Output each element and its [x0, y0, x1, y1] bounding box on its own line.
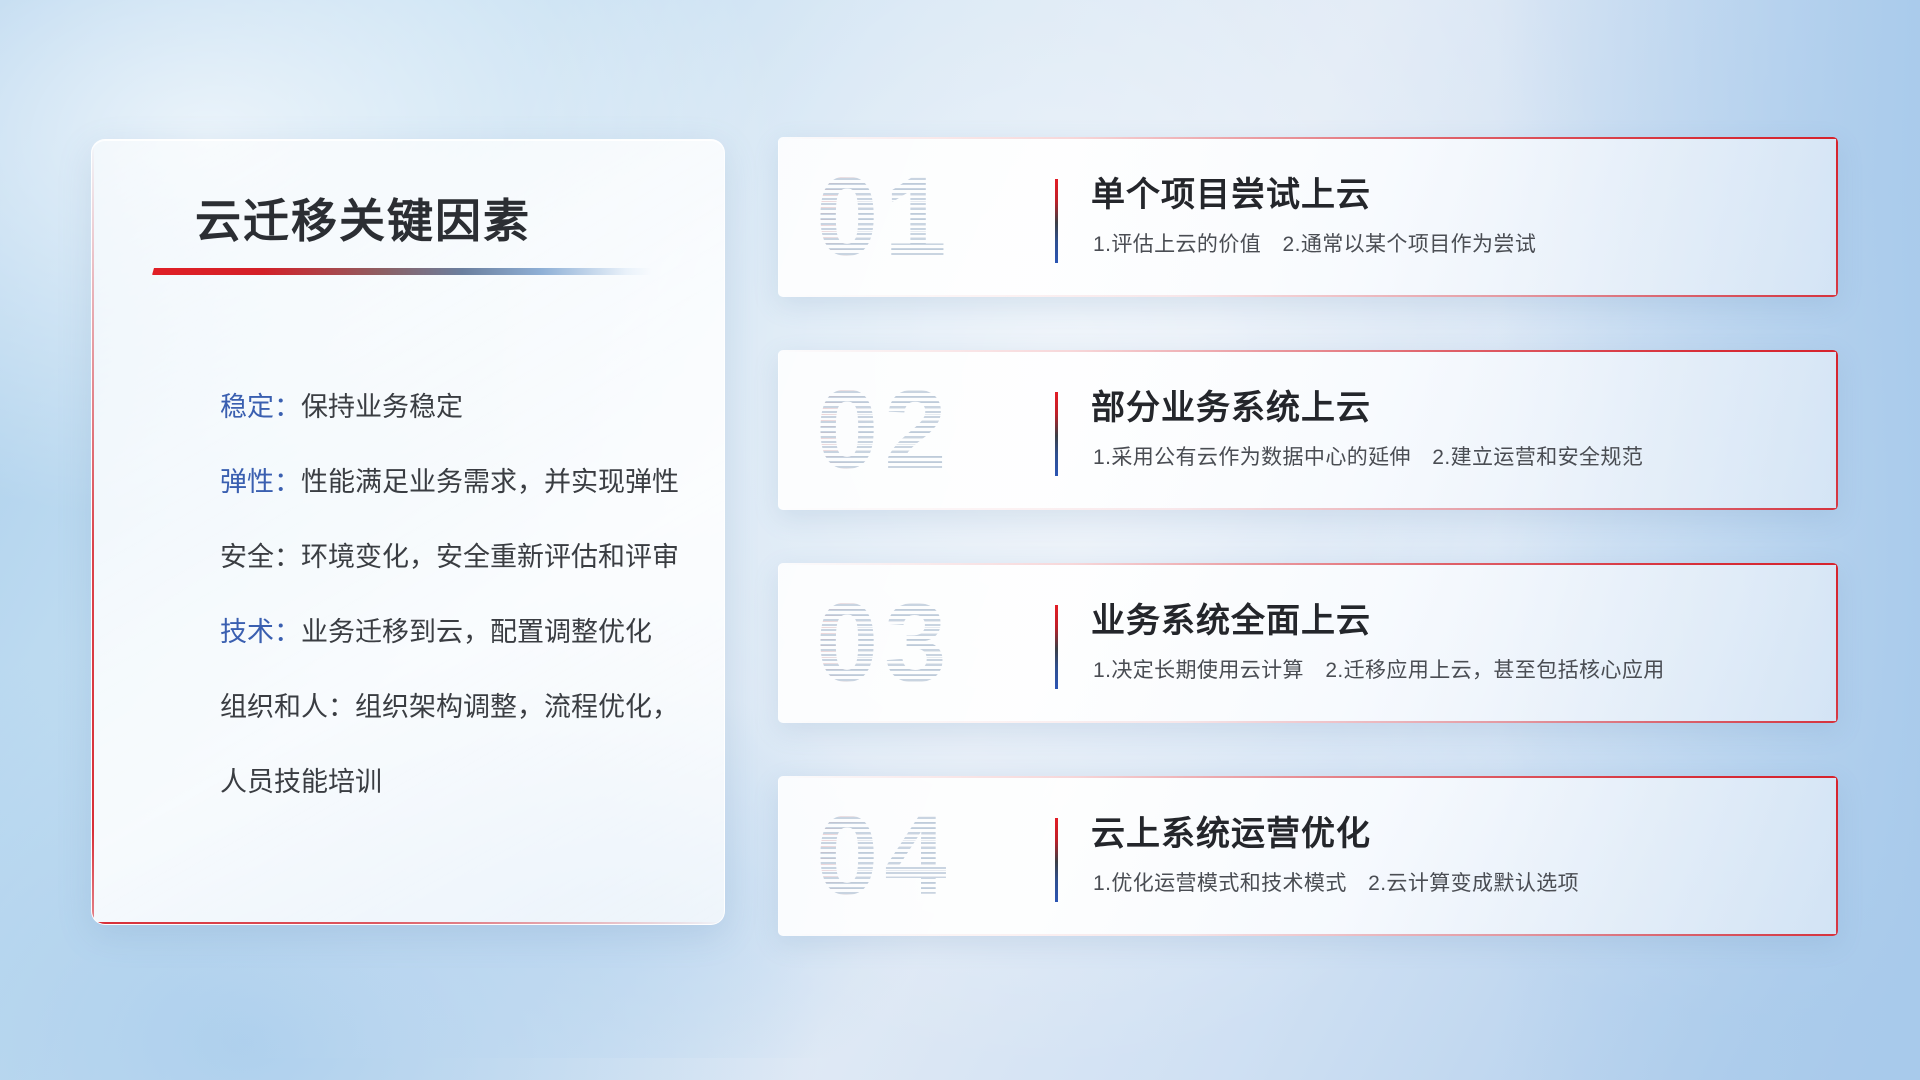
- factor-label: 稳定：: [220, 392, 301, 422]
- card-accent-bar: [1055, 179, 1058, 263]
- factor-row: 弹性：性能满足业务需求，并实现弹性: [220, 445, 684, 520]
- card-description: 1.评估上云的价值 2.通常以某个项目作为尝试: [1093, 228, 1536, 258]
- card-title: 单个项目尝试上云: [1091, 167, 1371, 216]
- card-number: 03: [816, 579, 1056, 707]
- card-description: 1.采用公有云作为数据中心的延伸 2.建立运营和安全规范: [1093, 441, 1643, 471]
- factor-text: 保持业务稳定: [301, 392, 463, 422]
- card-right-border: [1836, 563, 1838, 723]
- card-title: 云上系统运营优化: [1091, 806, 1371, 855]
- card-accent-bar: [1055, 605, 1058, 689]
- card-bottom-border: [778, 934, 1838, 936]
- card-top-border: [778, 137, 1838, 139]
- card-top-border: [778, 563, 1838, 565]
- factor-text: 业务迁移到云，配置调整优化: [301, 617, 652, 647]
- factor-row: 稳定：保持业务稳定: [220, 370, 684, 445]
- stage-card[interactable]: 0101单个项目尝试上云1.评估上云的价值 2.通常以某个项目作为尝试: [778, 137, 1838, 297]
- factor-text: 组织架构调整，流程优化，: [355, 692, 679, 722]
- factor-label: 技术：: [220, 617, 301, 647]
- card-right-border: [1836, 776, 1838, 936]
- factor-label: 弹性：: [220, 467, 301, 497]
- factor-text: 环境变化，安全重新评估和评审: [301, 542, 679, 572]
- card-description: 1.优化运营模式和技术模式 2.云计算变成默认选项: [1093, 867, 1579, 897]
- card-accent-bar: [1055, 392, 1058, 476]
- factor-list: 稳定：保持业务稳定弹性：性能满足业务需求，并实现弹性安全：环境变化，安全重新评估…: [220, 370, 684, 820]
- card-accent-bar: [1055, 818, 1058, 902]
- factor-text: 性能满足业务需求，并实现弹性: [301, 467, 679, 497]
- factor-label: 组织和人：: [220, 692, 355, 722]
- stage-card[interactable]: 0202部分业务系统上云1.采用公有云作为数据中心的延伸 2.建立运营和安全规范: [778, 350, 1838, 510]
- stage-card[interactable]: 0303业务系统全面上云1.决定长期使用云计算 2.迁移应用上云，甚至包括核心应…: [778, 563, 1838, 723]
- card-number: 04: [816, 792, 1056, 920]
- stage-card[interactable]: 0404云上系统运营优化1.优化运营模式和技术模式 2.云计算变成默认选项: [778, 776, 1838, 936]
- card-top-border: [778, 350, 1838, 352]
- factor-row: 人员技能培训: [220, 745, 684, 820]
- page-title: 云迁移关键因素: [195, 185, 531, 251]
- card-left-border: [778, 137, 779, 297]
- factor-row: 技术：业务迁移到云，配置调整优化: [220, 595, 684, 670]
- stage-card-list: 0101单个项目尝试上云1.评估上云的价值 2.通常以某个项目作为尝试0202部…: [778, 137, 1838, 989]
- card-bottom-border: [778, 295, 1838, 297]
- card-number: 02: [816, 366, 1056, 494]
- key-factors-panel: 云迁移关键因素 稳定：保持业务稳定弹性：性能满足业务需求，并实现弹性安全：环境变…: [91, 139, 725, 925]
- card-bottom-border: [778, 508, 1838, 510]
- card-right-border: [1836, 137, 1838, 297]
- card-left-border: [778, 350, 779, 510]
- card-title: 部分业务系统上云: [1091, 380, 1371, 429]
- card-top-border: [778, 776, 1838, 778]
- card-left-border: [778, 563, 779, 723]
- factor-label: 安全：: [220, 542, 301, 572]
- card-left-border: [778, 776, 779, 936]
- card-right-border: [1836, 350, 1838, 510]
- factor-row: 组织和人：组织架构调整，流程优化，: [220, 670, 684, 745]
- factor-row: 安全：环境变化，安全重新评估和评审: [220, 520, 684, 595]
- card-title: 业务系统全面上云: [1091, 593, 1371, 642]
- title-underline-rule: [152, 268, 652, 275]
- card-bottom-border: [778, 721, 1838, 723]
- card-description: 1.决定长期使用云计算 2.迁移应用上云，甚至包括核心应用: [1093, 654, 1665, 684]
- factor-text: 人员技能培训: [220, 767, 382, 797]
- slide-stage: 云迁移关键因素 稳定：保持业务稳定弹性：性能满足业务需求，并实现弹性安全：环境变…: [0, 0, 1920, 1080]
- card-number: 01: [816, 153, 1056, 281]
